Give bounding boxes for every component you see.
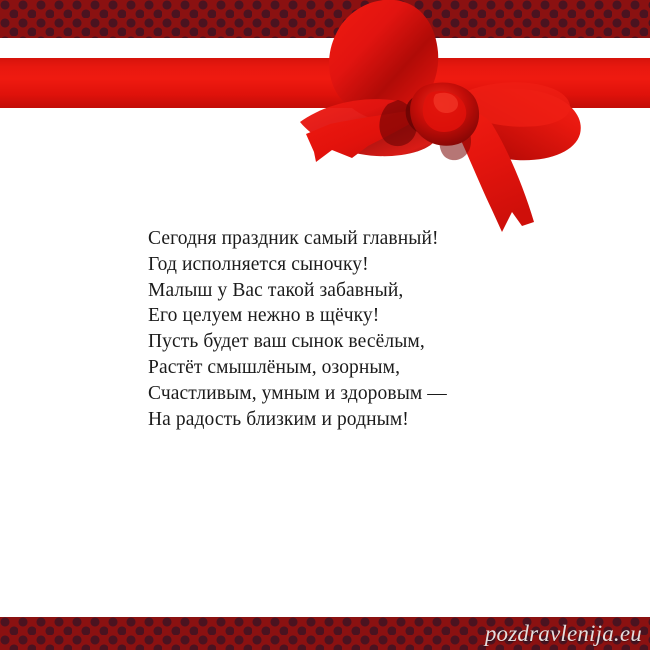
site-watermark: pozdravlenija.eu xyxy=(485,619,642,649)
poem-line: Его целуем нежно в щёчку! xyxy=(148,303,568,329)
poem-text-block: Сегодня праздник самый главный! Год испо… xyxy=(148,226,568,432)
top-polka-dot-band xyxy=(0,0,650,38)
poem-line: Счастливым, умным и здоровым — xyxy=(148,381,568,407)
poem-line: Год исполняется сыночку! xyxy=(148,252,568,278)
poem-line: Сегодня праздник самый главный! xyxy=(148,226,568,252)
poem-line: Пусть будет ваш сынок весёлым, xyxy=(148,329,568,355)
poem-line: Малыш у Вас такой забавный, xyxy=(148,278,568,304)
greeting-card: pozdravlenija.eu xyxy=(0,0,650,650)
poem-line: Растёт смышлёным, озорным, xyxy=(148,355,568,381)
ribbon-band xyxy=(0,58,650,108)
poem-line: На радость близким и родным! xyxy=(148,407,568,433)
